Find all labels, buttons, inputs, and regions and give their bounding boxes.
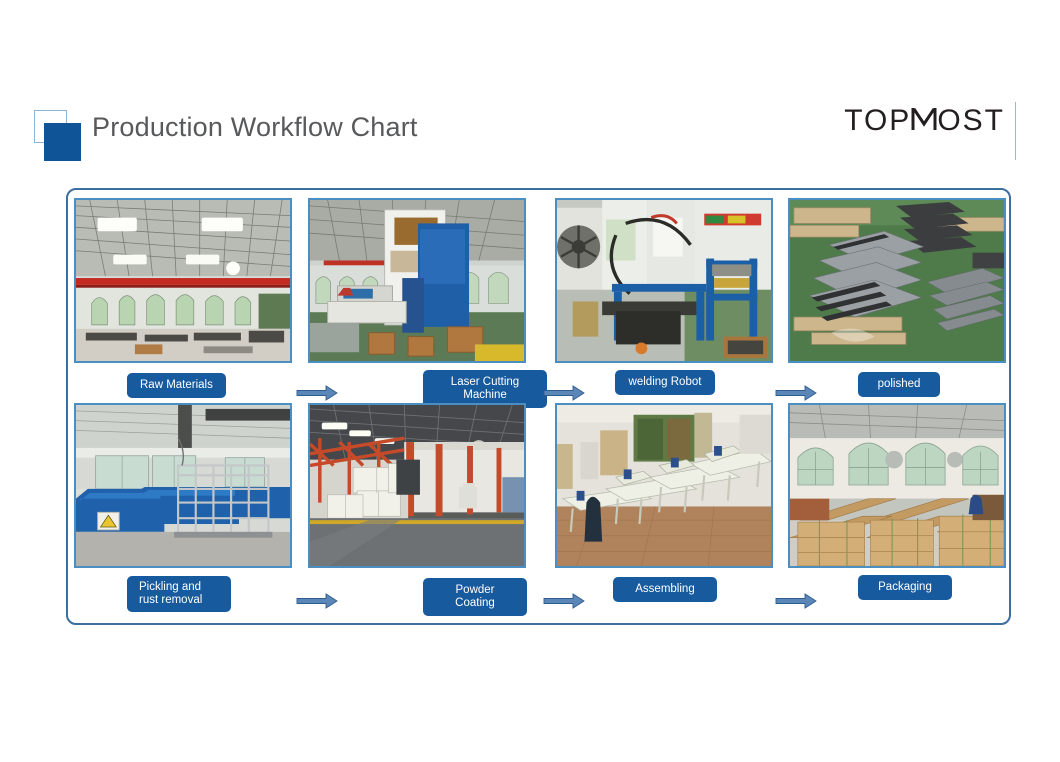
workflow-step-pickling[interactable]: Pickling and rust removal	[74, 403, 292, 608]
step-label-welding-robot: welding Robot	[615, 370, 715, 395]
workflow-frame: Raw Materials	[66, 188, 1011, 625]
workflow-step-packaging[interactable]: Packaging	[788, 403, 1006, 608]
brand-text-post: OST	[937, 104, 1005, 137]
brand-divider	[1015, 102, 1016, 160]
workflow-row-2: Pickling and rust removal	[68, 403, 1013, 608]
step-label-polished: polished	[858, 372, 940, 397]
step-label-pickling: Pickling and rust removal	[127, 576, 231, 612]
photo-polished-parts	[788, 198, 1006, 363]
photo-raw-materials	[74, 198, 292, 363]
workflow-step-powder-coating[interactable]: Powder Coating	[308, 403, 526, 608]
workflow-step-laser-cutting[interactable]: Laser Cutting Machine	[308, 198, 526, 403]
logo-solid-square	[44, 123, 81, 161]
brand-text-pre: TOP	[844, 104, 911, 137]
photo-assembling-line	[555, 403, 773, 568]
photo-packaging-warehouse	[788, 403, 1006, 568]
overlapping-squares-logo-icon	[34, 110, 86, 162]
photo-pickling-tanks	[74, 403, 292, 568]
step-label-packaging: Packaging	[858, 575, 952, 600]
photo-powder-coating-line	[308, 403, 526, 568]
photo-laser-cutting-machine	[308, 198, 526, 363]
brand-wordmark: TOPOST	[844, 104, 1005, 138]
workflow-step-welding-robot[interactable]: welding Robot	[555, 198, 773, 403]
step-label-assembling: Assembling	[613, 577, 717, 602]
brand-logo: TOPOST	[844, 104, 1016, 160]
workflow-step-assembling[interactable]: Assembling	[555, 403, 773, 608]
workflow-step-polished[interactable]: polished	[788, 198, 1006, 403]
brand-m-glyph-icon	[911, 104, 937, 134]
page-title: Production Workflow Chart	[92, 112, 418, 143]
page-header: Production Workflow Chart TOPOST	[0, 0, 1060, 180]
workflow-row-1: Raw Materials	[68, 198, 1013, 403]
photo-welding-robot	[555, 198, 773, 363]
step-label-powder-coating: Powder Coating	[423, 578, 527, 616]
workflow-step-raw-materials[interactable]: Raw Materials	[74, 198, 292, 403]
step-label-raw-materials: Raw Materials	[127, 373, 226, 398]
